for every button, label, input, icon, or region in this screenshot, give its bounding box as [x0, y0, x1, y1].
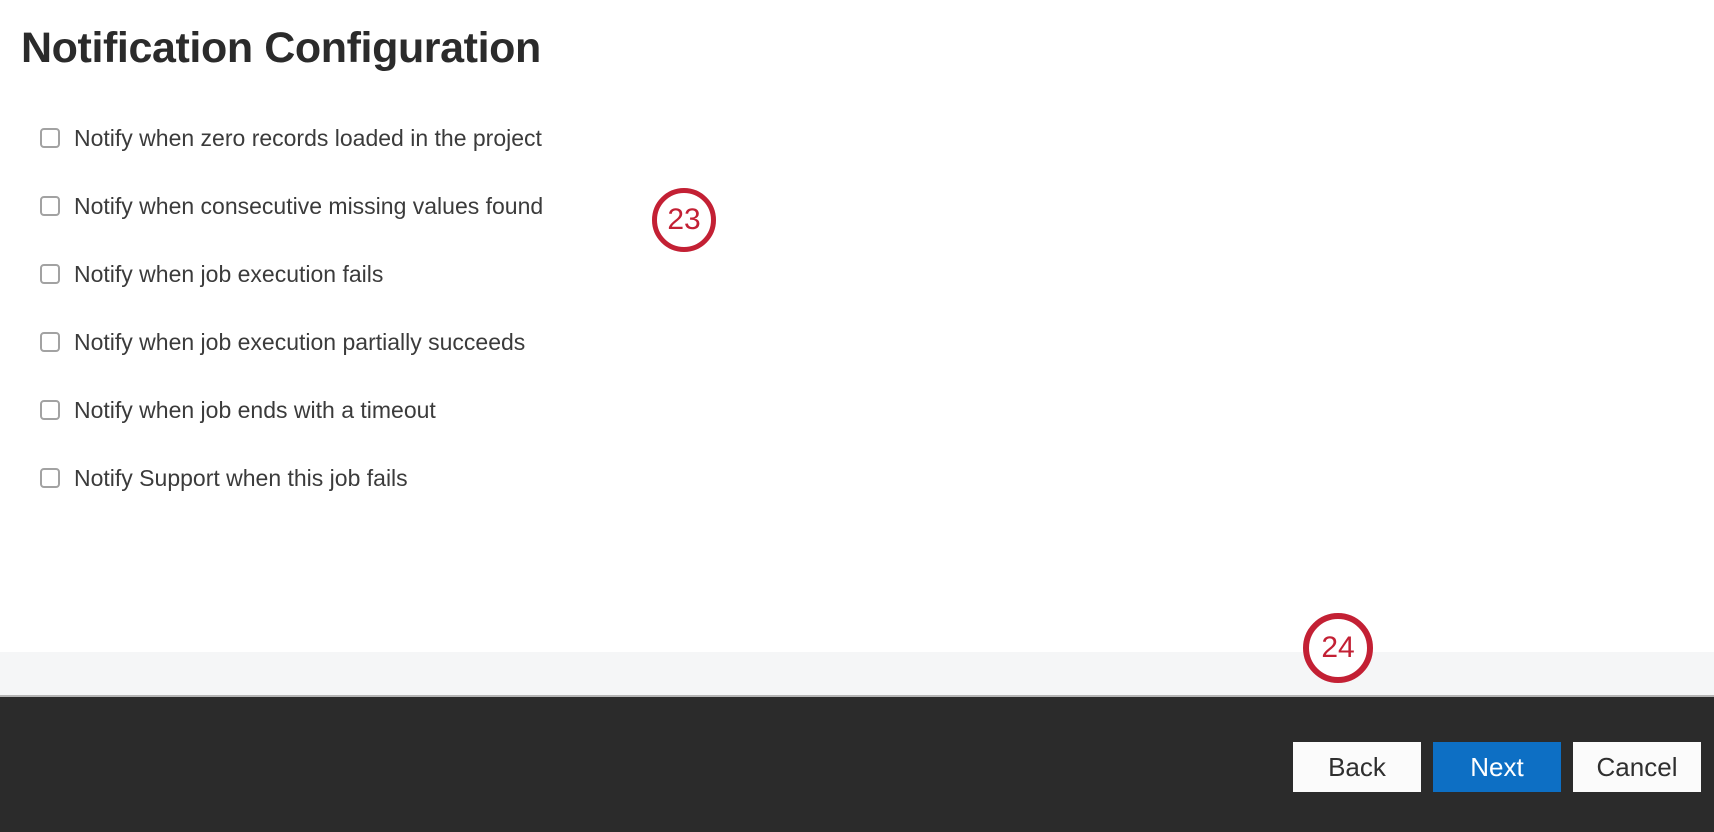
annotation-badge-24: 24	[1303, 613, 1373, 683]
notification-option-partially-succeeds[interactable]: Notify when job execution partially succ…	[40, 329, 525, 355]
notification-option-label: Notify Support when this job fails	[74, 465, 408, 491]
notification-option-notify-support[interactable]: Notify Support when this job fails	[40, 465, 408, 491]
notification-option-label: Notify when consecutive missing values f…	[74, 193, 543, 219]
notification-option-timeout[interactable]: Notify when job ends with a timeout	[40, 397, 436, 423]
footer-separator-strip	[0, 652, 1714, 697]
checkbox-icon[interactable]	[40, 196, 60, 216]
cancel-button[interactable]: Cancel	[1573, 742, 1701, 792]
notification-option-label: Notify when job execution partially succ…	[74, 329, 525, 355]
back-button[interactable]: Back	[1293, 742, 1421, 792]
checkbox-icon[interactable]	[40, 264, 60, 284]
content-panel: Notification Configuration Notify when z…	[0, 0, 1714, 652]
page-title: Notification Configuration	[21, 24, 541, 73]
notification-options-list: Notify when zero records loaded in the p…	[40, 125, 940, 533]
footer-bar: Back Next Cancel	[0, 697, 1714, 832]
notification-configuration-screen: Notification Configuration Notify when z…	[0, 0, 1714, 832]
notification-option-consecutive-missing-values[interactable]: Notify when consecutive missing values f…	[40, 193, 543, 219]
next-button[interactable]: Next	[1433, 742, 1561, 792]
notification-option-label: Notify when job ends with a timeout	[74, 397, 436, 423]
notification-option-zero-records[interactable]: Notify when zero records loaded in the p…	[40, 125, 542, 151]
annotation-badge-23: 23	[652, 188, 716, 252]
notification-option-label: Notify when job execution fails	[74, 261, 383, 287]
footer-button-group: Back Next Cancel	[1293, 742, 1714, 792]
checkbox-icon[interactable]	[40, 128, 60, 148]
checkbox-icon[interactable]	[40, 400, 60, 420]
checkbox-icon[interactable]	[40, 332, 60, 352]
notification-option-job-execution-fails[interactable]: Notify when job execution fails	[40, 261, 383, 287]
checkbox-icon[interactable]	[40, 468, 60, 488]
notification-option-label: Notify when zero records loaded in the p…	[74, 125, 542, 151]
